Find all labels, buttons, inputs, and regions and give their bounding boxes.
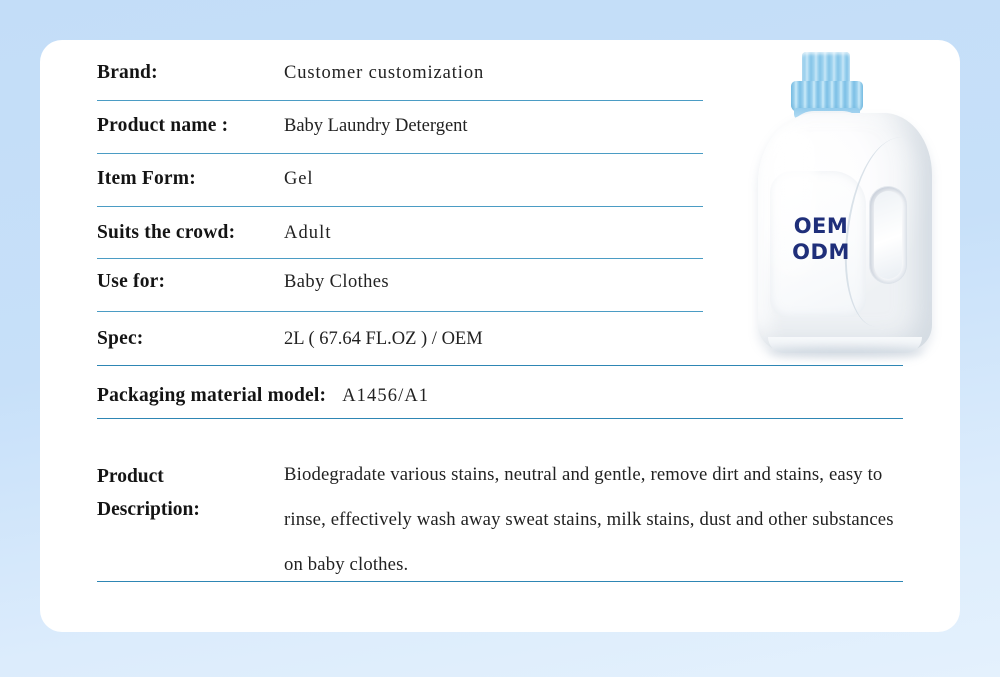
product-description-label-line1: Product bbox=[97, 460, 284, 493]
spec-label-use-for: Use for: bbox=[97, 271, 284, 293]
bottle-handle-inner bbox=[874, 191, 902, 279]
spec-row-packaging-material-model: Packaging material model: A1456/A1 bbox=[97, 366, 903, 419]
detergent-bottle-icon: OEM ODM bbox=[750, 45, 940, 357]
product-description-text: Biodegradate various stains, neutral and… bbox=[284, 448, 903, 587]
spec-label-suits-the-crowd: Suits the crowd: bbox=[97, 222, 284, 244]
bottle-label-line2: ODM bbox=[778, 239, 864, 265]
spec-value-item-form: Gel bbox=[284, 169, 313, 190]
spec-label-spec: Spec: bbox=[97, 328, 284, 350]
product-spec-card: Brand: Customer customization Product na… bbox=[40, 40, 960, 632]
spec-label-product-name: Product name : bbox=[97, 115, 284, 137]
bottle-oem-odm-label: OEM ODM bbox=[778, 213, 864, 265]
product-image: OEM ODM bbox=[700, 45, 940, 365]
bottle-cap-top bbox=[802, 52, 850, 84]
description-divider bbox=[97, 581, 903, 582]
spec-label-brand: Brand: bbox=[97, 62, 284, 84]
spec-value-spec: 2L ( 67.64 FL.OZ ) / OEM bbox=[284, 329, 483, 350]
product-description-block: Product Description: Biodegradate variou… bbox=[97, 448, 903, 587]
bottle-label-line1: OEM bbox=[778, 213, 864, 239]
page-root: Brand: Customer customization Product na… bbox=[0, 0, 1000, 677]
product-description-label: Product Description: bbox=[97, 448, 284, 587]
spec-value-packaging-material-model: A1456/A1 bbox=[342, 386, 429, 407]
spec-label-item-form: Item Form: bbox=[97, 168, 284, 190]
spec-value-use-for: Baby Clothes bbox=[284, 272, 389, 293]
spec-label-packaging-material-model: Packaging material model: bbox=[97, 385, 326, 407]
row-divider-wide bbox=[97, 418, 903, 419]
bottle-shadow bbox=[768, 347, 924, 357]
spec-value-product-name: Baby Laundry Detergent bbox=[284, 116, 468, 137]
spec-value-brand: Customer customization bbox=[284, 63, 484, 84]
spec-value-suits-the-crowd: Adult bbox=[284, 223, 332, 244]
product-description-label-line2: Description: bbox=[97, 493, 284, 526]
